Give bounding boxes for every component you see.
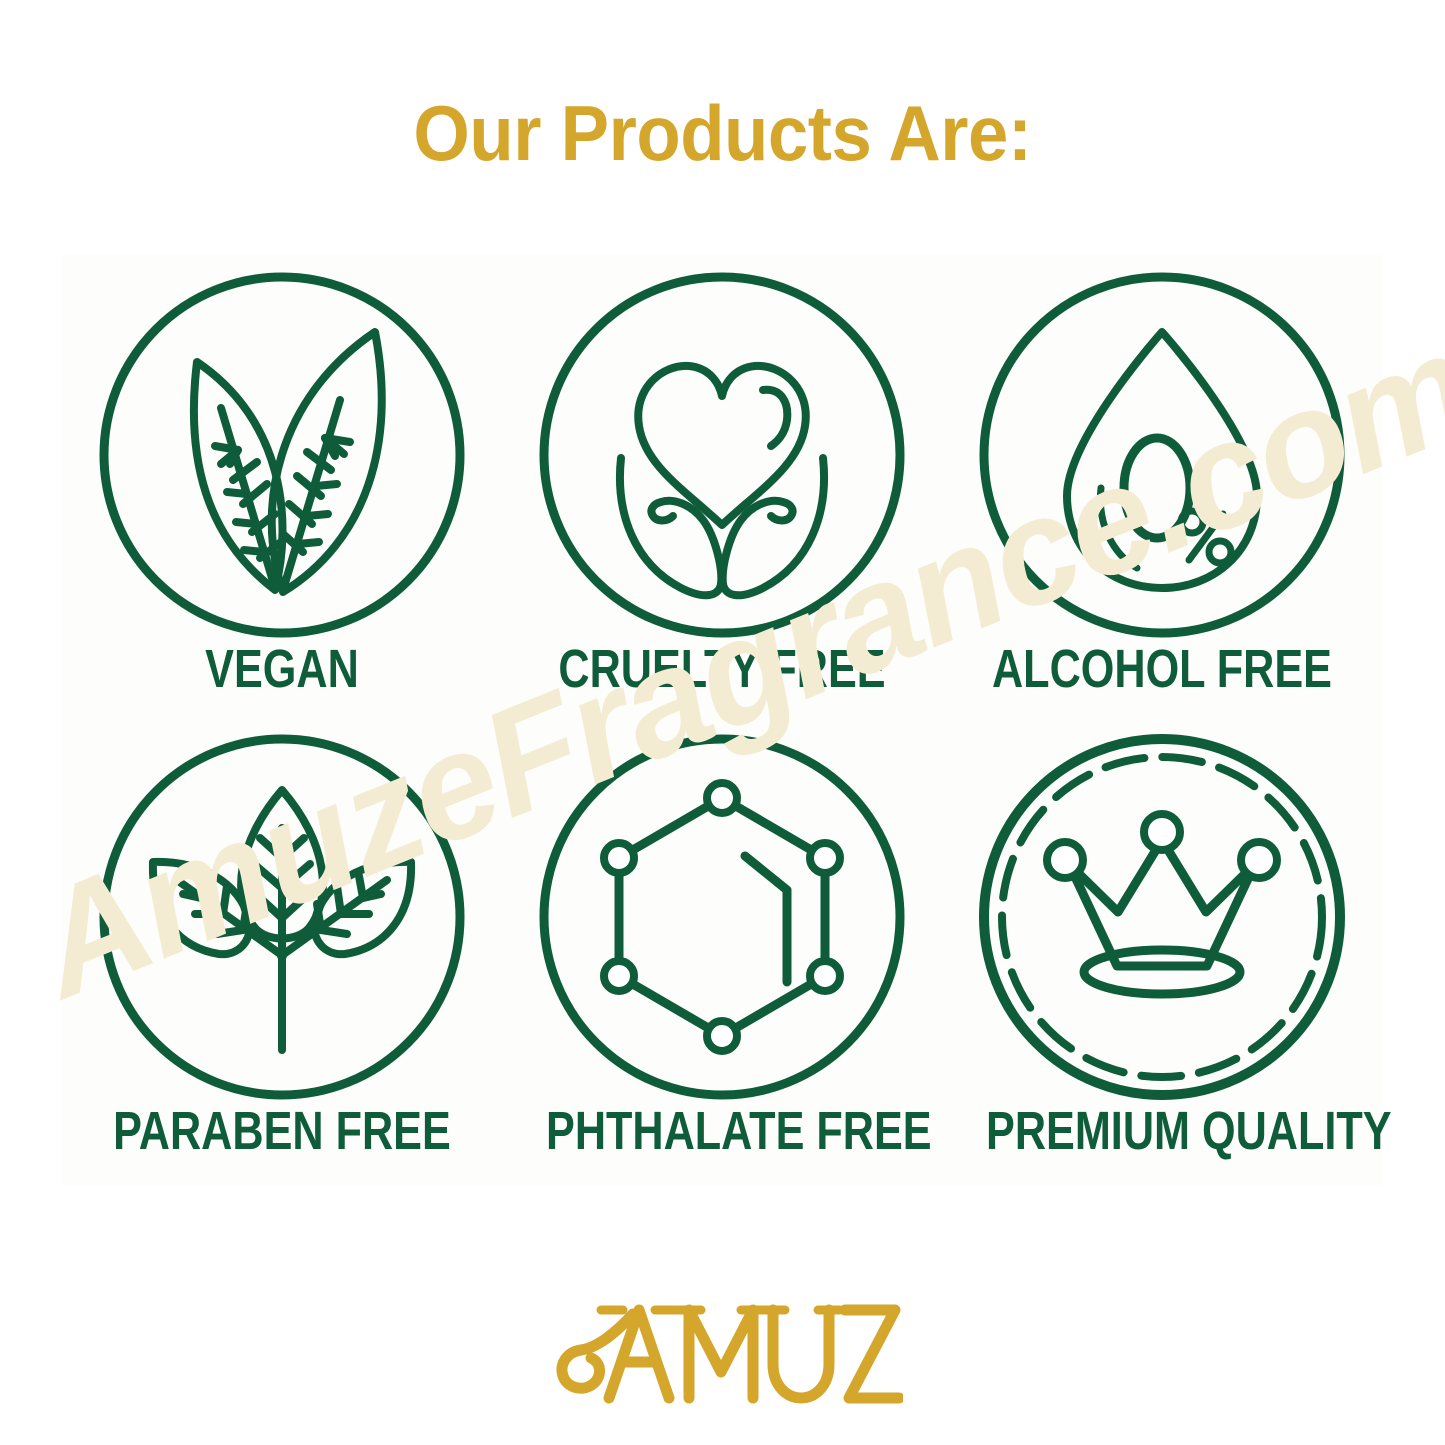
amuze-wordmark bbox=[543, 1292, 903, 1410]
crown-icon bbox=[977, 732, 1347, 1102]
badge-premium-quality[interactable]: PREMIUM QUALITY bbox=[942, 720, 1382, 1182]
badge-vegan[interactable]: VEGAN bbox=[62, 258, 502, 720]
page-title: Our Products Are: bbox=[51, 88, 1395, 179]
badge-grid: VEGAN CRUELTY FREE bbox=[62, 258, 1382, 1183]
badge-label: PHTHALATE FREE bbox=[546, 1104, 898, 1158]
water-droplet-zero-percent-icon bbox=[977, 270, 1347, 640]
three-leaf-plant-icon bbox=[97, 732, 467, 1102]
heart-in-hands-icon bbox=[537, 270, 907, 640]
badge-label: PARABEN FREE bbox=[106, 1104, 458, 1158]
badge-phthalate-free[interactable]: PHTHALATE FREE bbox=[502, 720, 942, 1182]
badge-paraben-free[interactable]: PARABEN FREE bbox=[62, 720, 502, 1182]
badge-label: VEGAN bbox=[106, 642, 458, 696]
badge-label: PREMIUM QUALITY bbox=[986, 1104, 1338, 1158]
badge-alcohol-free[interactable]: ALCOHOL FREE bbox=[942, 258, 1382, 720]
badge-label: CRUELTY FREE bbox=[546, 642, 898, 696]
badge-label: ALCOHOL FREE bbox=[986, 642, 1338, 696]
hexagon-molecule-icon bbox=[537, 732, 907, 1102]
poster-canvas: Our Products Are: bbox=[0, 0, 1445, 1445]
brand-logo bbox=[0, 1292, 1445, 1415]
two-leaves-icon bbox=[97, 270, 467, 640]
badge-cruelty-free[interactable]: CRUELTY FREE bbox=[502, 258, 942, 720]
